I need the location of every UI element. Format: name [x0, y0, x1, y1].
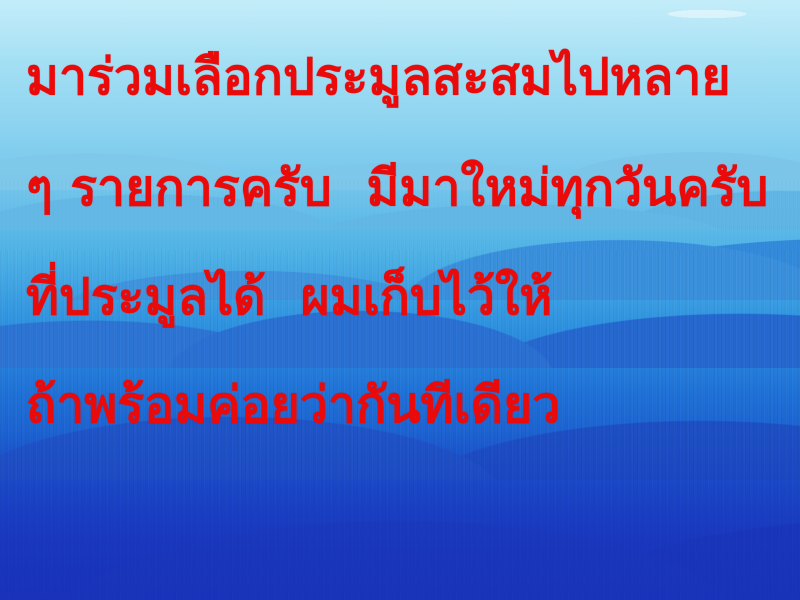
caption-line-4: ถ้าพร้อมค่อยว่ากันทีเดียว — [26, 380, 560, 430]
image-canvas: มาร่วมเลือกประมูลสะสมไปหลาย ๆ รายการครับ… — [0, 0, 800, 600]
caption-line-2: ๆ รายการครับ มีมาใหม่ทุกวันครับ — [26, 163, 768, 213]
caption-line-1: มาร่วมเลือกประมูลสะสมไปหลาย — [26, 52, 731, 102]
caption-line-3: ที่ประมูลได้ ผมเก็บไว้ให้ — [26, 272, 552, 322]
caption-overlay: มาร่วมเลือกประมูลสะสมไปหลาย ๆ รายการครับ… — [0, 0, 800, 600]
